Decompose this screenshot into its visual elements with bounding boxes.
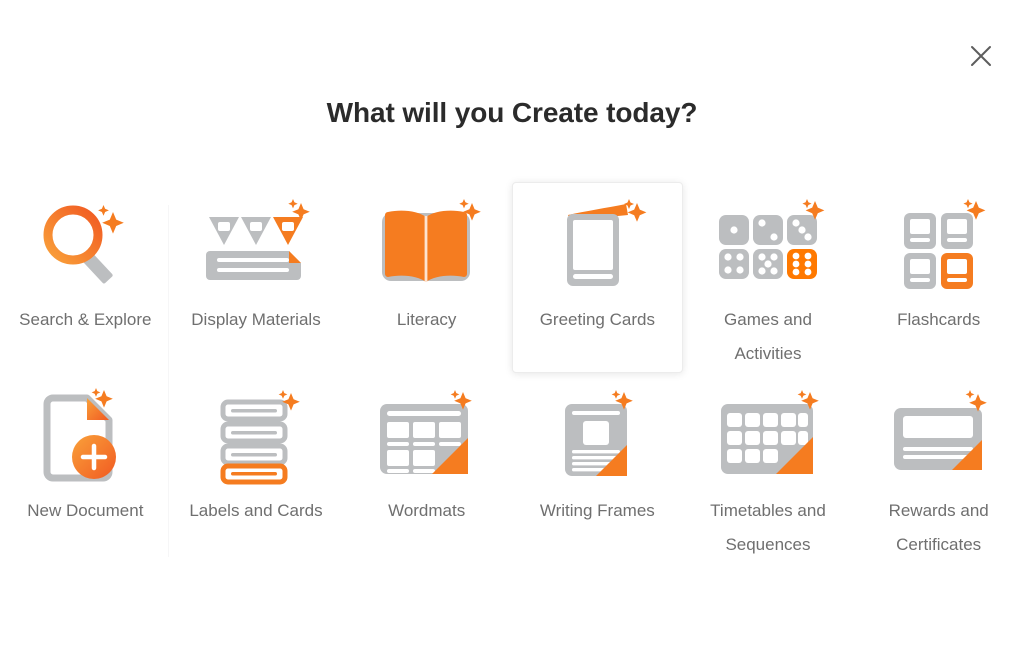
flashcards-grid-icon — [884, 197, 994, 293]
option-tile-timetables-sequences[interactable]: Timetables and Sequences — [683, 373, 854, 564]
option-tile-games-activities[interactable]: Games and Activities — [683, 182, 854, 373]
option-label: Flashcards — [864, 303, 1014, 337]
option-tile-search-explore[interactable]: Search & Explore — [0, 182, 171, 373]
option-label: Search & Explore — [10, 303, 160, 337]
folded-card-icon — [542, 197, 652, 293]
option-label: Rewards and Certificates — [864, 494, 1014, 562]
document-plus-icon — [30, 388, 140, 484]
magnifier-sparkle-icon — [30, 197, 140, 293]
option-tile-wordmats[interactable]: Wordmats — [341, 373, 512, 564]
bunting-banner-icon — [201, 197, 311, 293]
option-label: Timetables and Sequences — [693, 494, 843, 562]
option-label: New Document — [10, 494, 160, 528]
writing-frame-icon — [542, 388, 652, 484]
label-stack-icon — [201, 388, 311, 484]
option-label: Display Materials — [181, 303, 331, 337]
option-tile-greeting-cards[interactable]: Greeting Cards — [512, 182, 683, 373]
option-label: Games and Activities — [693, 303, 843, 371]
create-options-grid: Search & Explore Display Materials — [0, 182, 1024, 564]
option-tile-rewards-certificates[interactable]: Rewards and Certificates — [853, 373, 1024, 564]
option-tile-flashcards[interactable]: Flashcards — [853, 182, 1024, 373]
option-tile-literacy[interactable]: Literacy — [341, 182, 512, 373]
close-button[interactable] — [964, 39, 998, 73]
option-label: Writing Frames — [522, 494, 672, 528]
option-label: Labels and Cards — [181, 494, 331, 528]
close-icon — [970, 45, 992, 67]
option-tile-new-document[interactable]: New Document — [0, 373, 171, 564]
option-label: Wordmats — [352, 494, 502, 528]
dice-grid-icon — [713, 197, 823, 293]
column-divider — [168, 205, 169, 557]
open-book-icon — [372, 197, 482, 293]
option-label: Greeting Cards — [522, 303, 672, 337]
option-tile-writing-frames[interactable]: Writing Frames — [512, 373, 683, 564]
page-title: What will you Create today? — [0, 97, 1024, 129]
option-tile-labels-cards[interactable]: Labels and Cards — [171, 373, 342, 564]
certificate-icon — [884, 388, 994, 484]
option-label: Literacy — [352, 303, 502, 337]
wordmat-table-icon — [372, 388, 482, 484]
calendar-grid-icon — [713, 388, 823, 484]
option-tile-display-materials[interactable]: Display Materials — [171, 182, 342, 373]
